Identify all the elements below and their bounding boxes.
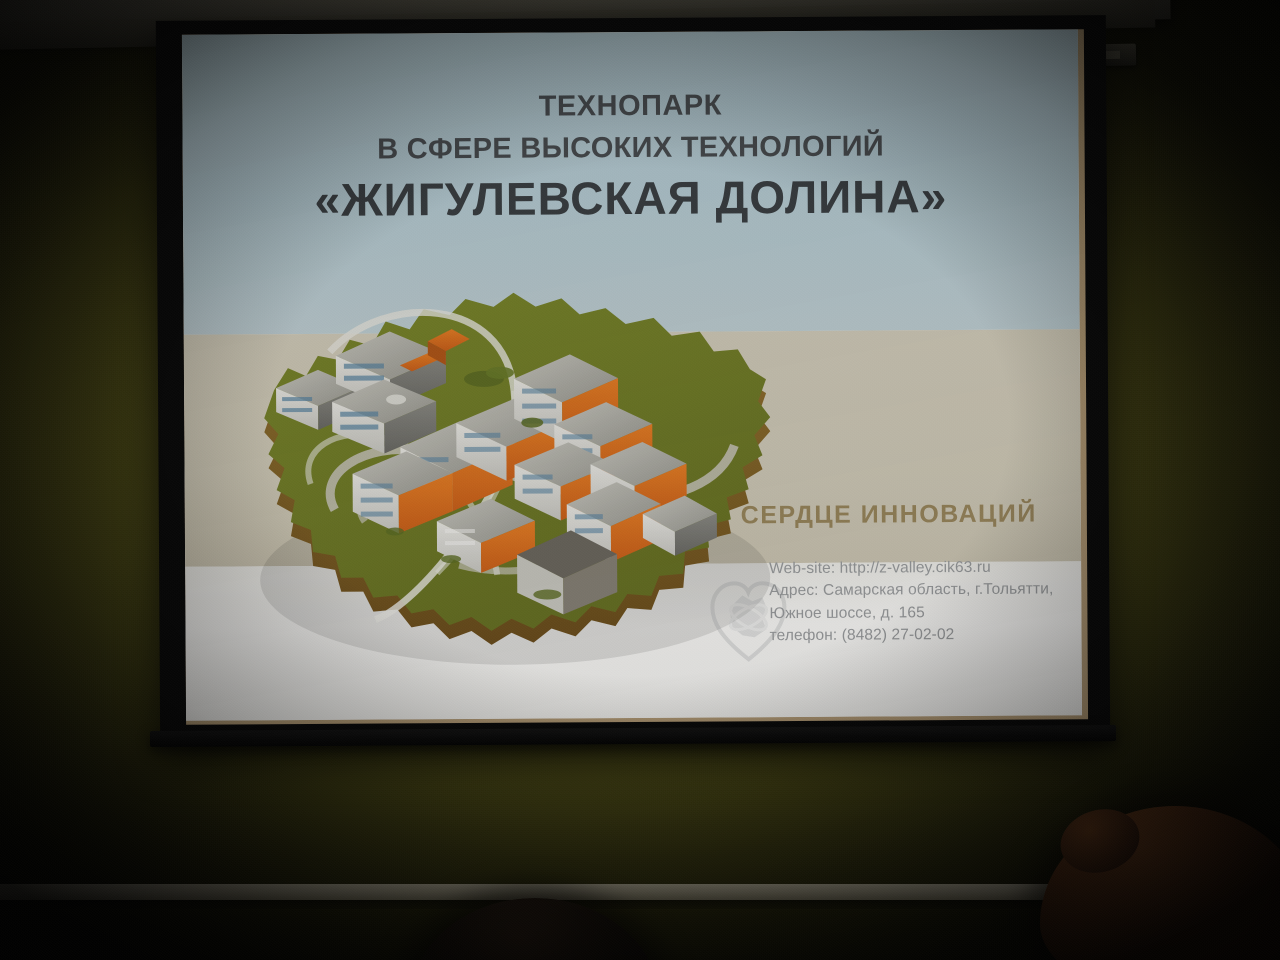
contact-website: Web-site: http://z-valley.cik63.ru [769, 556, 1069, 580]
presentation-slide: ТЕХНОПАРК В СФЕРЕ ВЫСОКИХ ТЕХНОЛОГИЙ «ЖИ… [182, 29, 1082, 720]
title-line-1: ТЕХНОПАРК [182, 89, 1078, 123]
title-line-2: В СФЕРЕ ВЫСОКИХ ТЕХНОЛОГИЙ [182, 131, 1078, 165]
projection-screen-frame: ТЕХНОПАРК В СФЕРЕ ВЫСОКИХ ТЕХНОЛОГИЙ «ЖИ… [156, 15, 1110, 747]
contact-address-line-2: Южное шоссе, д. 165 [769, 601, 1069, 625]
slide-outer-edge: ТЕХНОПАРК В СФЕРЕ ВЫСОКИХ ТЕХНОЛОГИЙ «ЖИ… [182, 29, 1088, 724]
conference-room-photo: ТЕХНОПАРК В СФЕРЕ ВЫСОКИХ ТЕХНОЛОГИЙ «ЖИ… [0, 0, 1280, 960]
slide-title-block: ТЕХНОПАРК В СФЕРЕ ВЫСОКИХ ТЕХНОЛОГИЙ «ЖИ… [182, 89, 1079, 223]
contact-phone: телефон: (8482) 27-02-02 [769, 624, 1069, 648]
contact-address-line-1: Адрес: Самарская область, г.Тольятти, [769, 579, 1069, 603]
contact-block: Web-site: http://z-valley.cik63.ru Адрес… [769, 556, 1070, 648]
title-line-3: «ЖИГУЛЕВСКАЯ ДОЛИНА» [183, 172, 1079, 223]
slide-tagline: СЕРДЦЕ ИННОВАЦИЙ [741, 500, 1037, 531]
